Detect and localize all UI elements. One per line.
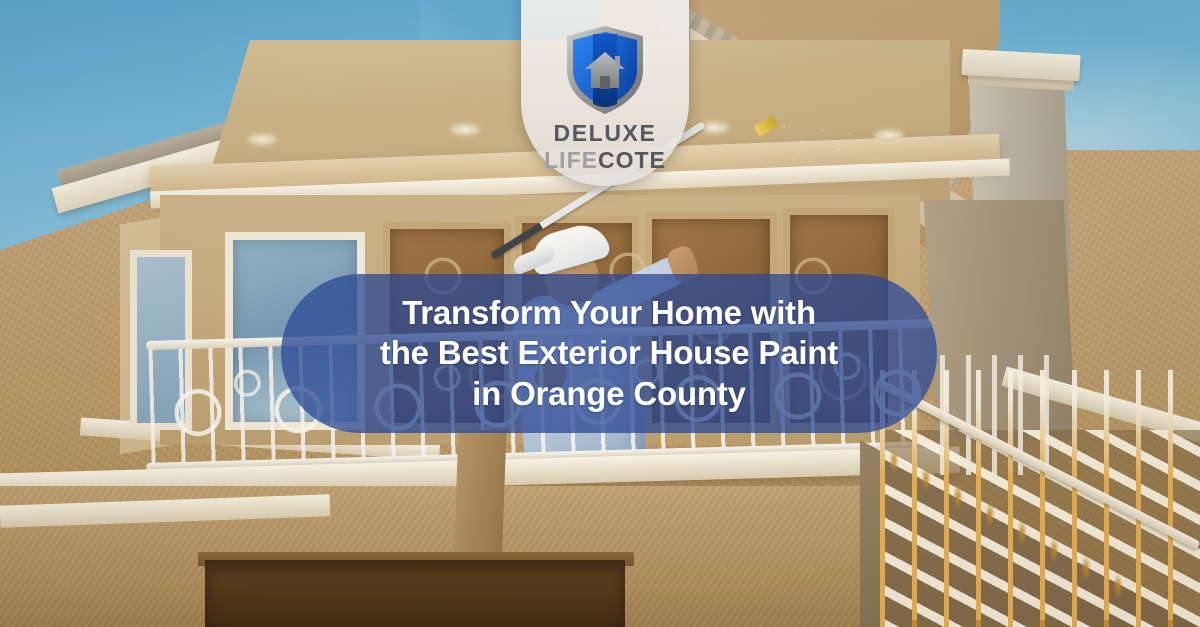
deluxe-lifecote-logo-badge[interactable]: DELUXE LIFECOTE: [521, 0, 689, 186]
headline-line-1: Transform Your Home with: [380, 293, 838, 333]
page-title: Transform Your Home with the Best Exteri…: [354, 293, 864, 414]
headline-line-3: in Orange County: [380, 374, 838, 414]
logo-wordmark: DELUXE LIFECOTE: [544, 122, 666, 172]
hero-banner: DELUXE LIFECOTE Transform Your Home with…: [0, 0, 1200, 627]
logo-text-lifecote: LIFECOTE: [544, 149, 666, 172]
headline-line-2: the Best Exterior House Paint: [380, 333, 838, 373]
headline-banner: Transform Your Home with the Best Exteri…: [281, 274, 937, 433]
logo-text-cote: COTE: [598, 147, 666, 173]
logo-text-life: LIFE: [544, 147, 598, 173]
shield-house-icon: [563, 24, 647, 116]
logo-text-deluxe: DELUXE: [544, 122, 666, 145]
